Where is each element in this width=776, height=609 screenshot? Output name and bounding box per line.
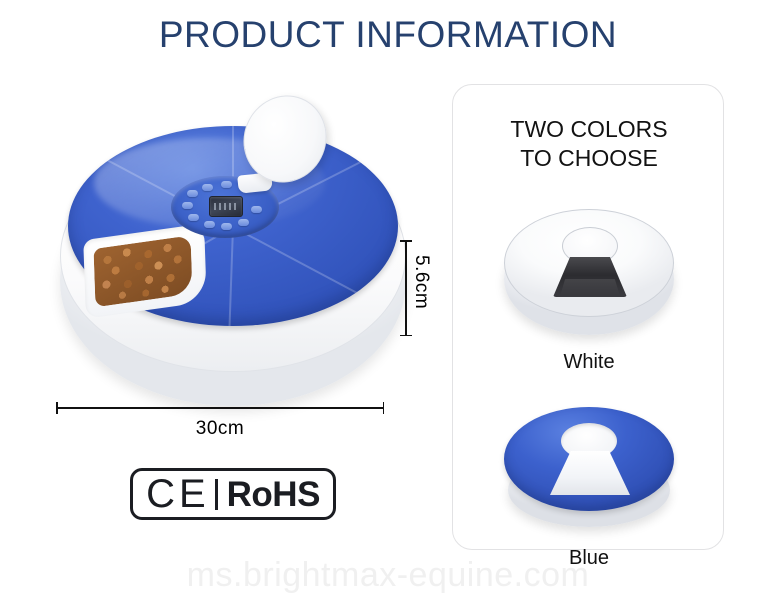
dimension-line [405,240,407,336]
colors-panel: TWO COLORS TO CHOOSE White Blue [452,84,724,550]
control-button [187,190,198,197]
ce-mark-icon: C E RoHS [146,474,320,514]
control-button [238,219,249,226]
compartment-divider [233,226,380,305]
main-product-image [40,120,440,420]
color-variant-white[interactable]: White [453,197,725,374]
height-dimension-label: 5.6cm [410,255,432,309]
control-button [221,223,232,230]
blue-feeder-image [500,393,678,541]
width-dimension-label: 30cm [56,418,384,440]
page-title: PRODUCT INFORMATION [0,14,776,56]
control-button [251,206,262,213]
control-button [202,184,213,191]
ce-letter-e: E [179,474,206,514]
control-button [204,221,215,228]
dimension-cap-right [383,402,385,414]
color-variant-blue[interactable]: Blue [453,393,725,570]
lcd-display-icon [209,196,243,217]
site-watermark: ms.brightmax-equine.com [0,556,776,595]
ce-rohs-certification-badge: C E RoHS [130,468,336,520]
ce-letter-c: C [146,474,175,514]
rohs-label: RoHS [227,477,320,512]
control-button [182,202,193,209]
white-feeder-image [500,197,678,345]
ce-rohs-separator [215,479,218,510]
product-information-page: PRODUCT INFORMATION [0,0,776,609]
control-button [188,214,199,221]
width-dimension-line [56,402,384,414]
control-button [221,181,232,188]
dimension-cap-bottom [400,335,412,337]
pet-food-kibble [93,235,192,307]
compartment-divider [226,227,234,326]
colors-panel-title: TWO COLORS TO CHOOSE [453,115,725,173]
dimension-line [56,407,384,409]
variant-label-white: White [453,351,725,374]
